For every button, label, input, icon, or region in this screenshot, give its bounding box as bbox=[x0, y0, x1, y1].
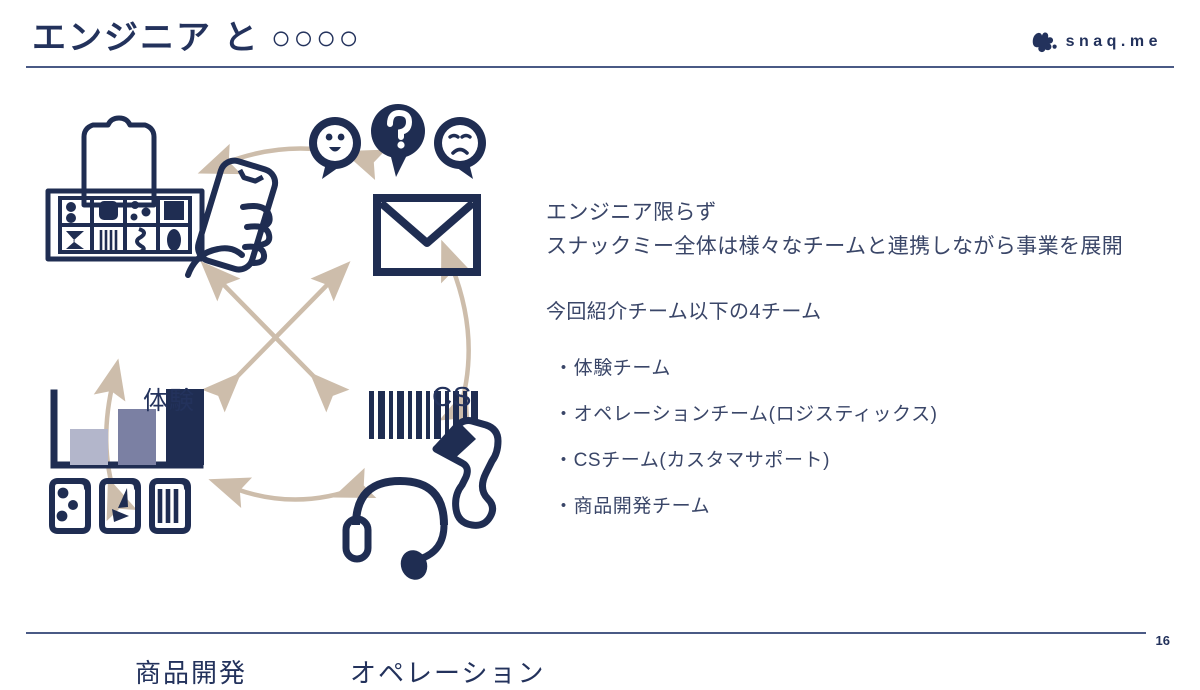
barcode-scanner-and-headset-icon bbox=[346, 391, 498, 584]
sub-heading: 今回紹介チーム以下の4チーム bbox=[546, 296, 1176, 328]
squirrel-logo-icon bbox=[1031, 31, 1057, 53]
lead-line-1: エンジニア限らず bbox=[546, 196, 1176, 230]
page-title: エンジニア と ○○○○ bbox=[32, 10, 361, 59]
snack-packet-stripes-icon bbox=[152, 481, 188, 531]
page-number: 16 bbox=[1156, 633, 1170, 648]
slide: エンジニア と ○○○○ snaq.me bbox=[0, 0, 1200, 675]
description-block: エンジニア限らず スナックミー全体は様々なチームと連携しながら事業を展開 今回紹… bbox=[546, 196, 1176, 530]
team-list: ・体験チーム ・オペレーションチーム(ロジスティックス) ・CSチーム(カスタマ… bbox=[546, 346, 1176, 530]
footer-divider bbox=[26, 632, 1146, 634]
diagram-canvas bbox=[40, 95, 560, 615]
header-divider bbox=[26, 66, 1174, 68]
connector-bottom-arrow bbox=[236, 487, 360, 500]
brand-name: snaq.me bbox=[1066, 33, 1162, 51]
bar-2 bbox=[118, 409, 156, 465]
question-bubble-icon bbox=[371, 104, 425, 177]
envelope-icon bbox=[377, 198, 477, 272]
happy-face-bubble-icon bbox=[309, 117, 361, 179]
speech-bubble-faces-icon bbox=[309, 104, 486, 179]
brand-logo: snaq.me bbox=[1031, 31, 1162, 53]
team-relationship-diagram: 体験 CS 商品開発 オペレーション bbox=[40, 95, 560, 615]
bar-1 bbox=[70, 429, 108, 465]
snack-packet-dots-icon bbox=[52, 481, 88, 531]
sad-face-bubble-icon bbox=[434, 117, 486, 179]
lead-line-2: スナックミー全体は様々なチームと連携しながら事業を展開 bbox=[546, 230, 1176, 264]
snack-box-and-phone-icon bbox=[48, 118, 279, 275]
diagram-label-shohin-kaihatsu: 商品開発 bbox=[135, 653, 247, 690]
list-item: ・体験チーム bbox=[546, 346, 1176, 392]
diagram-label-taiken: 体験 bbox=[143, 381, 195, 417]
snack-packet-triangles-icon bbox=[102, 481, 138, 531]
diagram-label-cs: CS bbox=[432, 381, 472, 413]
list-item: ・商品開発チーム bbox=[546, 484, 1176, 530]
copy-spacer bbox=[546, 264, 1176, 296]
diagram-label-operation: オペレーション bbox=[350, 653, 545, 690]
list-item: ・オペレーションチーム(ロジスティックス) bbox=[546, 392, 1176, 438]
list-item: ・CSチーム(カスタマサポート) bbox=[546, 438, 1176, 484]
